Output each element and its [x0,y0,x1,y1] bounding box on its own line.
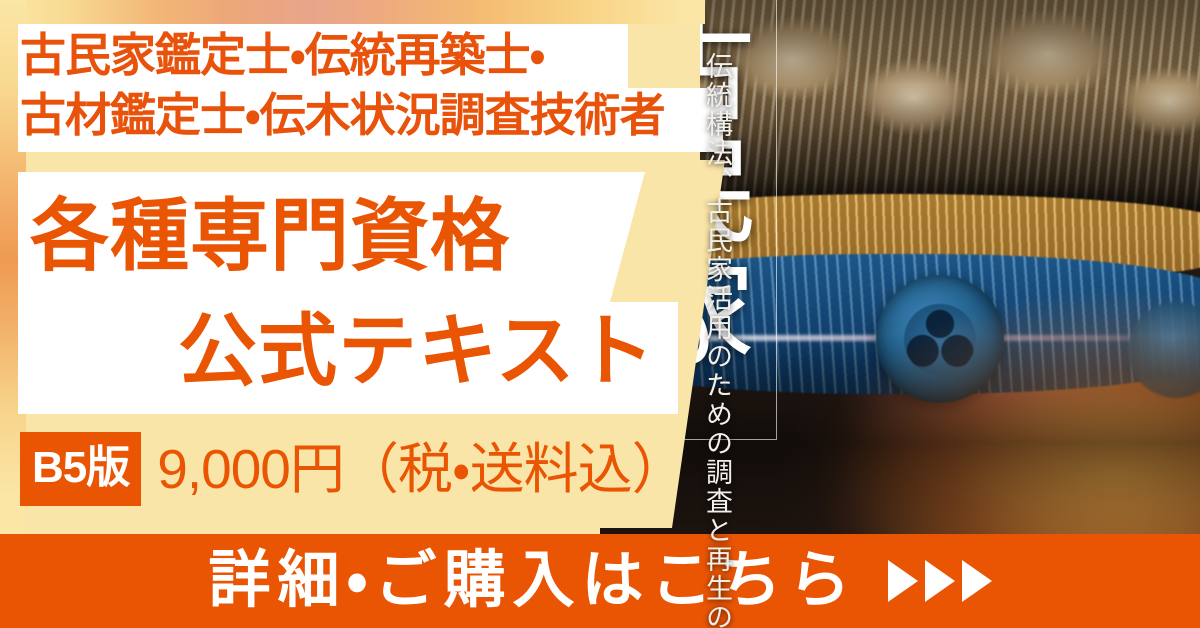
cta-bar[interactable]: 詳細・ご購入はこちら [0,534,1200,628]
triangle-right-icon [962,560,992,602]
qualifications-headline-line-1: 古民家鑑定士・伝統再築士・ [20,26,720,86]
triangle-right-icon [925,560,955,602]
qualifications-headline-line-2: 古材鑑定士・伝木状況調査技術者 [20,86,720,146]
cta-arrow-group [888,560,992,602]
qualifications-headline: 古民家鑑定士・伝統再築士・ 古材鑑定士・伝木状況調査技術者 [20,26,720,146]
price-row: B5版 9,000円（税・送料込） [20,432,686,506]
promo-banner: 古民家 伝統構法、古民家活用のための調査と再生の 古民家鑑定士・伝統再築士・ 古… [0,0,1200,628]
cta-label: 詳細・ご購入はこちら [208,550,857,612]
main-title-line-2: 公式テキスト [18,293,678,408]
price-amount: 9,000円（税・送料込） [157,442,685,497]
cover-subtitle-text: 伝統構法、古民家活用のための調査と再生の [700,52,733,628]
size-badge: B5版 [20,432,141,506]
main-title-line-1: 各種専門資格 [18,178,678,293]
main-title: 各種専門資格 公式テキスト [18,178,678,409]
top-gradient-strip [0,0,705,24]
triangle-right-icon [888,560,918,602]
